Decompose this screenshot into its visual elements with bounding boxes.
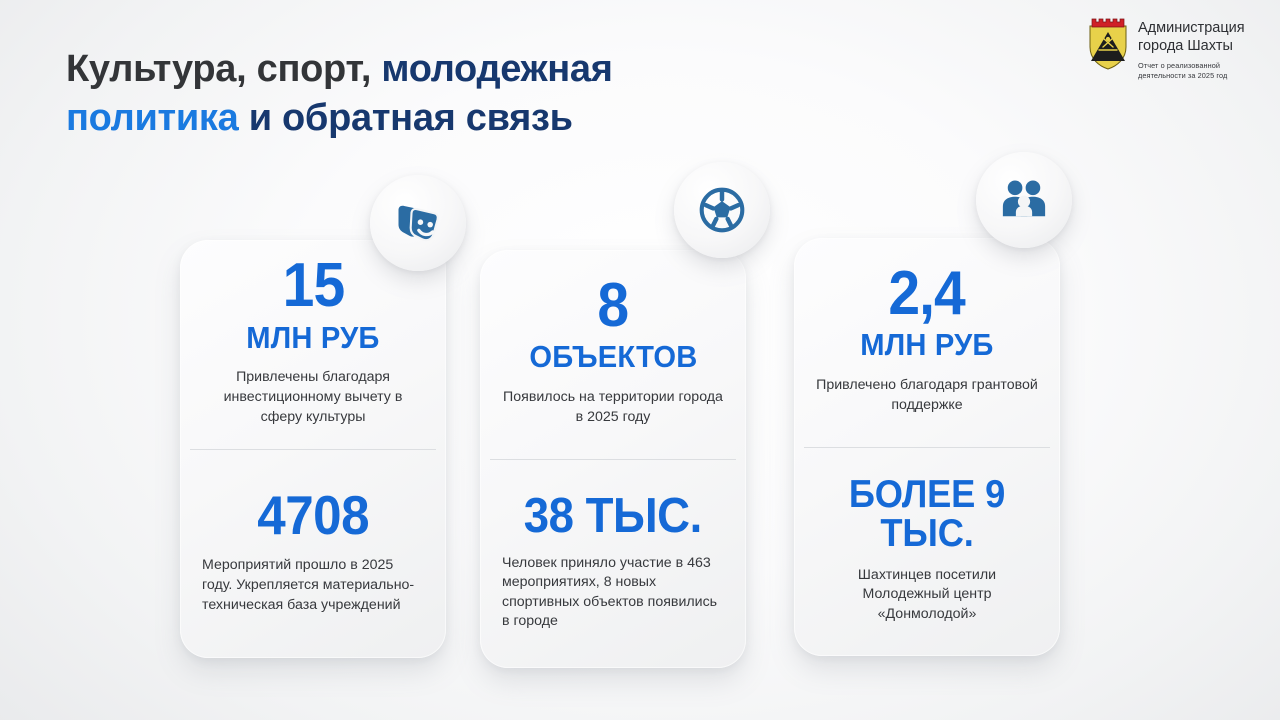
stat-card-sport-top: 8 ОБЪЕКТОВ Появилось на территории город… [480,250,746,459]
page-title-segment-blue: политика [66,97,249,139]
stat-value: 4708 [257,488,369,543]
stat-card-youth-top: 2,4 МЛН РУБ Привлечено благодаря грантов… [794,238,1060,447]
card-icon-badge-culture [370,175,466,271]
stats-card-group: 15 МЛН РУБ Привлечены благодаря инвестиц… [180,240,1066,660]
page-title-segment-dark: Культура, спорт, [66,48,381,90]
stat-value: 38 ТЫС. [524,492,702,541]
people-group-icon [998,174,1050,226]
stat-value: 2,4 [889,265,966,323]
card-icon-badge-youth [976,152,1072,248]
logo-line-1: Администрация [1138,20,1266,38]
page-title-line-2: политика и обратная связь [66,94,786,143]
coat-of-arms-shakhty-icon [1087,16,1129,71]
stat-description: Мероприятий прошло в 2025 году. Укрепляе… [202,556,424,615]
logo-subtitle: Отчет о реализованной деятельности за 20… [1138,61,1266,80]
page-title-segment-navy-1: молодежная [381,48,612,90]
stat-description: Шахтинцев посетили Молодежный центр «Дон… [816,566,1038,625]
stat-value: БОЛЕЕ 9 ТЫС. [824,475,1030,553]
logo-text-block: Администрация города Шахты Отчет о реали… [1138,16,1266,80]
stat-description: Появилось на территории города в 2025 го… [502,388,724,427]
stat-description: Привлечены благодаря инвестиционному выч… [202,368,424,427]
stat-card-culture-bottom: 4708 Мероприятий прошло в 2025 году. Укр… [180,450,446,659]
logo-line-2: города Шахты [1138,38,1266,56]
page-title: Культура, спорт, молодежная политика и о… [66,45,786,142]
stat-card-culture[interactable]: 15 МЛН РУБ Привлечены благодаря инвестиц… [180,240,446,658]
stat-card-sport[interactable]: 8 ОБЪЕКТОВ Появилось на территории город… [480,250,746,668]
card-icon-badge-sport [674,162,770,258]
stat-card-youth-bottom: БОЛЕЕ 9 ТЫС. Шахтинцев посетили Молодежн… [794,448,1060,657]
stat-value: 8 [598,277,629,335]
theater-masks-icon [392,197,444,249]
administration-logo: Администрация города Шахты Отчет о реали… [1087,16,1266,80]
stat-card-sport-bottom: 38 ТЫС. Человек приняло участие в 463 ме… [480,460,746,669]
soccer-ball-icon [696,184,748,236]
stat-card-youth[interactable]: 2,4 МЛН РУБ Привлечено благодаря грантов… [794,238,1060,656]
stat-card-culture-top: 15 МЛН РУБ Привлечены благодаря инвестиц… [180,240,446,449]
stat-value: 15 [282,257,344,315]
stat-description: Привлечено благодаря грантовой поддержке [816,376,1038,415]
stat-unit: ОБЪЕКТОВ [529,340,697,375]
stat-description: Человек приняло участие в 463 мероприяти… [502,554,724,632]
stat-unit: МЛН РУБ [246,321,379,356]
stat-unit: МЛН РУБ [860,328,993,363]
page-title-segment-navy-2: и обратная связь [249,97,573,139]
page-title-line-1: Культура, спорт, молодежная [66,45,786,94]
